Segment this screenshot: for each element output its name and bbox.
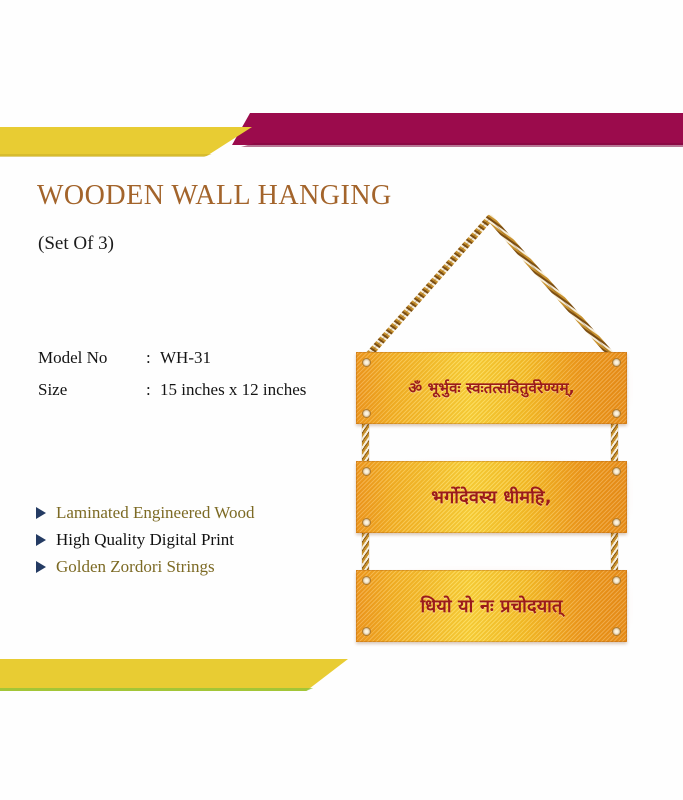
eyelet-icon (612, 358, 621, 367)
spec-value-size: 15 inches x 12 inches (160, 380, 306, 412)
connector-cord-right-upper (611, 418, 618, 466)
page-subtitle: (Set Of 3) (38, 233, 114, 255)
footer-ribbon-yellow (0, 659, 348, 691)
plank-2-text: भर्गोदेवस्य धीमहि, (423, 485, 559, 509)
list-item: Golden Zordori Strings (36, 557, 254, 577)
eyelet-icon (612, 627, 621, 636)
eyelet-icon (612, 518, 621, 527)
triangle-bullet-icon (36, 534, 46, 546)
spec-separator: : (146, 380, 160, 412)
spec-separator: : (146, 348, 160, 380)
plank-1: ॐ भूर्भुवः स्वःतत्सवितुर्वरेण्यम्, (356, 352, 627, 424)
triangle-bullet-icon (36, 561, 46, 573)
header-ribbon-maroon (232, 113, 683, 145)
specs-table: Model No : WH-31 Size : 15 inches x 12 i… (38, 348, 306, 412)
plank-3-text: धियो यो नः प्रचोदयात् (412, 594, 570, 618)
connector-cord-right-lower (611, 527, 618, 575)
plank-3: धियो यो नः प्रचोदयात् (356, 570, 627, 642)
feature-text: High Quality Digital Print (56, 530, 234, 550)
header-ribbon-yellow-edge (0, 154, 252, 157)
plank-1-text: ॐ भूर्भुवः स्वःतत्सवितुर्वरेण्यम्, (400, 378, 582, 398)
list-item: Laminated Engineered Wood (36, 503, 254, 523)
product-image: ॐ भूर्भुवः स्वःतत्सवितुर्वरेण्यम्, भर्गो… (340, 196, 640, 641)
table-row: Model No : WH-31 (38, 348, 306, 380)
eyelet-icon (362, 518, 371, 527)
eyelet-icon (362, 467, 371, 476)
spec-value-model-no: WH-31 (160, 348, 306, 380)
connector-cord-left-lower (362, 527, 369, 575)
spec-label-model-no: Model No (38, 348, 146, 380)
plank-2: भर्गोदेवस्य धीमहि, (356, 461, 627, 533)
eyelet-icon (612, 467, 621, 476)
connector-cord-left-upper (362, 418, 369, 466)
eyelet-icon (612, 409, 621, 418)
eyelet-icon (362, 409, 371, 418)
feature-text: Laminated Engineered Wood (56, 503, 254, 523)
footer-ribbon-yellow-edge (0, 688, 348, 691)
triangle-bullet-icon (36, 507, 46, 519)
eyelet-icon (362, 576, 371, 585)
page-title: WOODEN WALL HANGING (37, 180, 392, 212)
eyelet-icon (612, 576, 621, 585)
eyelet-icon (362, 627, 371, 636)
header-ribbon-yellow (0, 127, 252, 156)
feature-text: Golden Zordori Strings (56, 557, 215, 577)
header-ribbon-maroon-shadow (232, 143, 683, 147)
spec-label-size: Size (38, 380, 146, 412)
product-listing-page: WOODEN WALL HANGING (Set Of 3) Model No … (0, 0, 683, 800)
features-list: Laminated Engineered Wood High Quality D… (36, 503, 254, 584)
eyelet-icon (362, 358, 371, 367)
table-row: Size : 15 inches x 12 inches (38, 380, 306, 412)
list-item: High Quality Digital Print (36, 530, 254, 550)
